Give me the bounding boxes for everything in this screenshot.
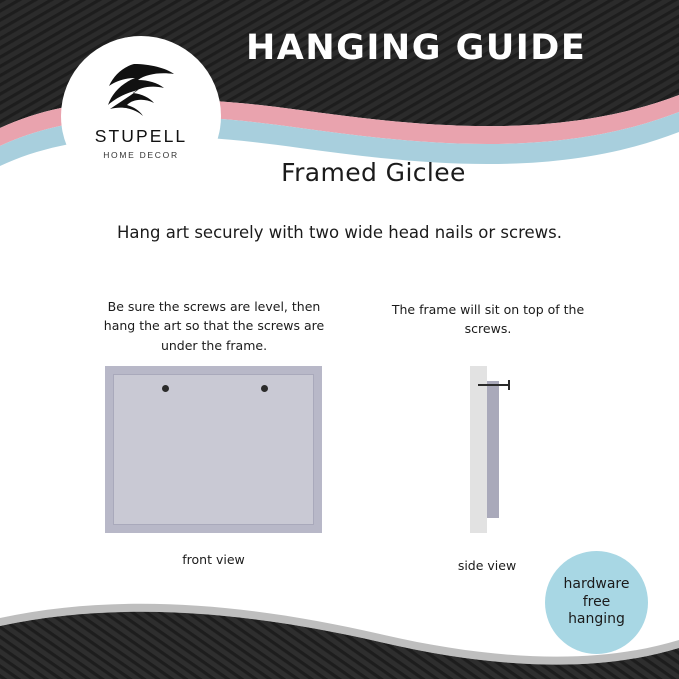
page-title: HANGING GUIDE bbox=[246, 28, 646, 68]
side-view-screw-icon bbox=[478, 384, 510, 386]
hanging-guide-page: STUPELL HOME DECOR HANGING GUIDE Framed … bbox=[0, 0, 679, 679]
side-view-screw-head-icon bbox=[508, 380, 510, 390]
hardware-free-badge: hardware free hanging bbox=[545, 551, 648, 654]
badge-line-3: hanging bbox=[568, 611, 625, 629]
front-view-caption: Be sure the screws are level, then hang … bbox=[90, 297, 338, 355]
front-view-diagram bbox=[105, 366, 322, 533]
logo-name: STUPELL bbox=[95, 126, 188, 147]
badge-line-2: free bbox=[583, 594, 611, 612]
screw-dot-left-icon bbox=[162, 385, 169, 392]
instruction-text: Hang art securely with two wide head nai… bbox=[0, 223, 679, 242]
side-view-caption: The frame will sit on top of the screws. bbox=[388, 300, 588, 339]
logo-subtitle: HOME DECOR bbox=[103, 150, 179, 160]
badge-line-1: hardware bbox=[564, 576, 630, 594]
stupell-swoosh-logo-icon bbox=[104, 62, 178, 120]
side-view-frame bbox=[487, 381, 499, 518]
screw-dot-right-icon bbox=[261, 385, 268, 392]
front-view-mat bbox=[113, 374, 314, 525]
front-view-label: front view bbox=[105, 552, 322, 567]
brand-logo: STUPELL HOME DECOR bbox=[61, 36, 221, 196]
side-view-label: side view bbox=[420, 558, 554, 573]
side-view-wall bbox=[470, 366, 487, 533]
